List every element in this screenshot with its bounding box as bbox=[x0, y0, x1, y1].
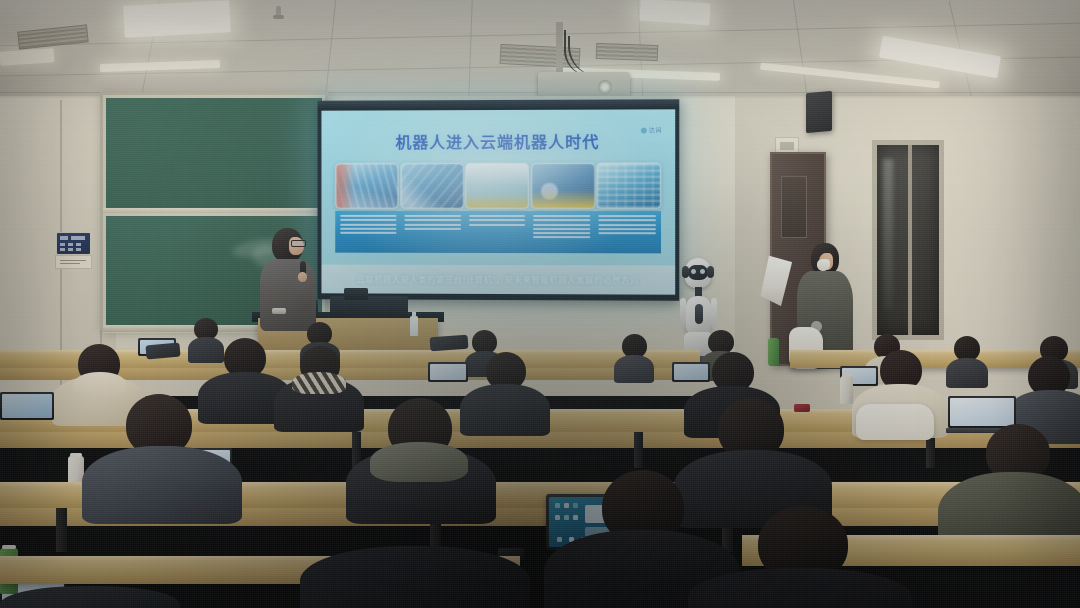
audience-member bbox=[946, 336, 986, 384]
wall-sign-plate bbox=[55, 255, 92, 269]
student-shoulders bbox=[82, 446, 242, 524]
slide-card bbox=[400, 163, 464, 209]
slide-card bbox=[465, 163, 529, 209]
student-shoulders bbox=[946, 358, 988, 388]
robot-chest-panel bbox=[695, 304, 703, 324]
audience-member bbox=[0, 586, 160, 608]
hoodie-collar bbox=[370, 442, 468, 482]
audience-member bbox=[96, 394, 226, 514]
seat-back bbox=[145, 343, 180, 360]
door-window-pane bbox=[781, 176, 807, 238]
robot-eye-icon bbox=[691, 269, 696, 274]
thermos-bottle bbox=[840, 376, 853, 404]
slide-footer: 云端机器人是人类的第三台“计算机”，是未来智能机器人发展的必然方向 bbox=[321, 265, 675, 295]
lectern-equipment bbox=[330, 296, 408, 318]
fire-sprinkler-icon bbox=[276, 6, 281, 18]
logo-mark-icon bbox=[641, 128, 647, 134]
slide-card bbox=[531, 163, 595, 209]
white-backpack bbox=[856, 404, 934, 440]
water-bottle bbox=[410, 316, 418, 336]
slide-band-column bbox=[531, 215, 592, 249]
projection-screen: 机器人进入云端机器人时代 达闼 bbox=[318, 99, 680, 301]
student-shoulders bbox=[688, 568, 912, 608]
slide-band-column bbox=[402, 215, 462, 249]
slide-footer-text: 云端机器人是人类的第三台“计算机”，是未来智能机器人发展的必然方向 bbox=[357, 274, 639, 287]
desk-leg bbox=[56, 508, 67, 552]
student-shoulders bbox=[0, 586, 180, 608]
slide-title: 机器人进入云端机器人时代 bbox=[321, 128, 675, 153]
audience-member bbox=[616, 334, 652, 378]
audience-member bbox=[688, 506, 898, 608]
lectern-monitor bbox=[344, 288, 368, 300]
presentation-slide: 机器人进入云端机器人时代 达闼 bbox=[321, 109, 675, 294]
eyeglasses-icon bbox=[291, 240, 306, 247]
audience-member bbox=[300, 546, 520, 608]
robot-arm bbox=[680, 298, 686, 328]
chalkboard-upper-panel bbox=[103, 95, 325, 213]
slide-logo-label: 达闼 bbox=[649, 128, 662, 134]
laptop[interactable] bbox=[0, 392, 58, 422]
projector-mount-pole bbox=[556, 22, 563, 74]
hoodie-collar bbox=[74, 372, 126, 396]
window-mullion bbox=[908, 145, 912, 335]
desk-leg bbox=[634, 432, 643, 468]
ceiling-light-panel bbox=[123, 0, 231, 38]
audience-member bbox=[356, 398, 484, 516]
presenter-clicker bbox=[272, 308, 286, 314]
wall-speaker bbox=[806, 91, 832, 133]
laptop-lid bbox=[428, 362, 468, 382]
presenter-hand bbox=[298, 272, 307, 282]
wall-control-panel[interactable] bbox=[56, 232, 91, 255]
robot-arm bbox=[711, 298, 717, 328]
slide-card bbox=[596, 163, 661, 209]
presenter bbox=[258, 228, 320, 330]
robot-ear-module bbox=[707, 266, 714, 278]
slide-card-row bbox=[335, 163, 661, 207]
robot-face-panel bbox=[688, 265, 708, 280]
robot-eye-icon bbox=[700, 269, 705, 274]
slide-band-column bbox=[597, 215, 658, 249]
audience-member bbox=[278, 346, 358, 430]
laptop-lid bbox=[0, 392, 54, 420]
projector-lens-icon bbox=[598, 80, 612, 94]
seat-back bbox=[430, 335, 469, 352]
student-shoulders bbox=[614, 355, 654, 383]
robot-head bbox=[685, 258, 711, 288]
corridor-window bbox=[872, 140, 944, 340]
robot-torso bbox=[686, 296, 711, 334]
slide-logo: 达闼 bbox=[641, 125, 662, 134]
window-glare bbox=[883, 159, 893, 309]
slide-card bbox=[335, 163, 398, 209]
laptop-screen bbox=[430, 364, 466, 380]
slide-band-column bbox=[338, 215, 398, 249]
laptop-screen bbox=[950, 398, 1014, 426]
student-shoulders bbox=[300, 546, 530, 608]
slide-text-band bbox=[335, 211, 661, 253]
patterned-scarf bbox=[292, 372, 346, 394]
laptop-screen bbox=[2, 394, 52, 418]
robot-ear-module bbox=[682, 266, 689, 278]
slide-band-column bbox=[467, 215, 528, 249]
lecture-hall-photo: 机器人进入云端机器人时代 达闼 bbox=[0, 0, 1080, 608]
